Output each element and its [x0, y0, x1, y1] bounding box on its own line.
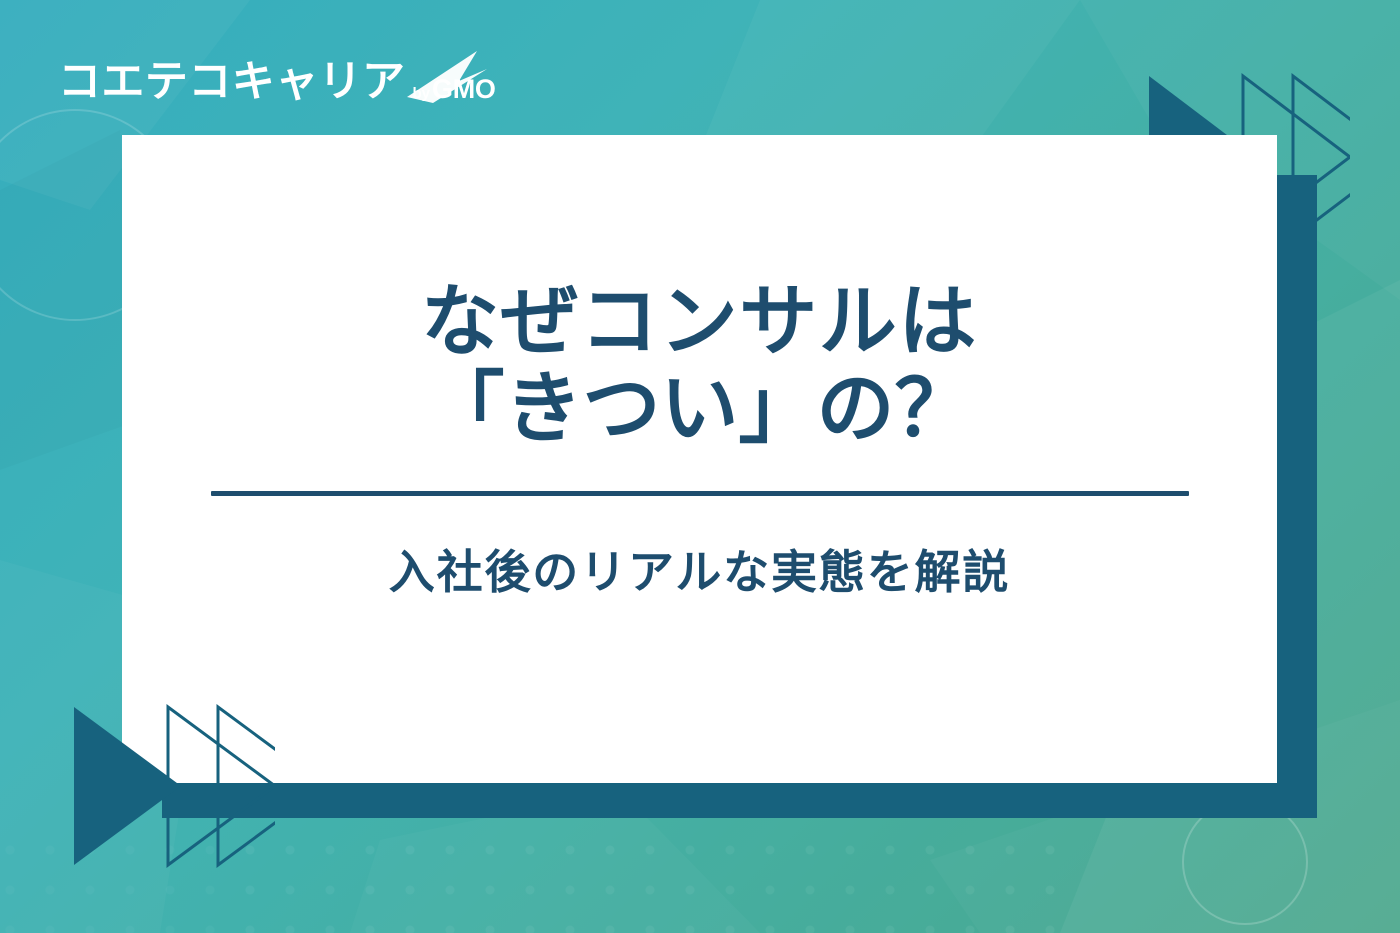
brand-logo[interactable]: コエテコキャリア by GMO — [58, 44, 496, 104]
triple-triangle-right-icon — [60, 695, 275, 880]
title-divider — [211, 491, 1189, 496]
slide-canvas: なぜコンサルは 「きつい」の？ 入社後のリアルな実態を解説 コエテコキャリア b… — [0, 0, 1400, 933]
page-title-line-2: 「きつい」の？ — [421, 365, 978, 452]
page-title: なぜコンサルは 「きつい」の？ — [421, 278, 978, 453]
title-card: なぜコンサルは 「きつい」の？ 入社後のリアルな実態を解説 — [122, 135, 1277, 783]
page-subtitle: 入社後のリアルな実態を解説 — [389, 536, 1010, 602]
arrow-swoosh-icon — [399, 47, 495, 103]
logo-wordmark: コエテコキャリア — [58, 61, 405, 104]
page-title-line-1: なぜコンサルは — [421, 277, 978, 365]
logo-text: コエテコキャリア — [58, 58, 405, 106]
